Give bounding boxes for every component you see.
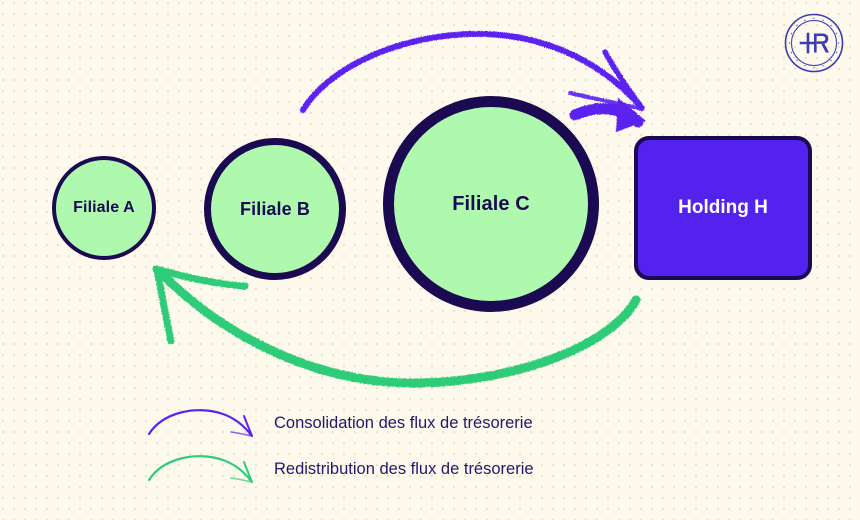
node-filiale-b[interactable]: Filiale B bbox=[204, 138, 346, 280]
node-holding-h[interactable]: Holding H bbox=[634, 136, 812, 280]
node-label: Filiale A bbox=[73, 199, 135, 217]
legend: Consolidation des flux de trésorerie Red… bbox=[145, 400, 625, 492]
curved-arrow-icon bbox=[145, 448, 260, 490]
node-label: Holding H bbox=[678, 197, 768, 219]
diagram-canvas: Filiale A Filiale B Filiale C Holding H … bbox=[0, 0, 860, 520]
node-label: Filiale C bbox=[452, 193, 530, 216]
legend-label: Consolidation des flux de trésorerie bbox=[274, 414, 533, 433]
circular-seal-logo bbox=[783, 12, 845, 74]
node-filiale-c[interactable]: Filiale C bbox=[383, 96, 599, 312]
legend-label: Redistribution des flux de trésorerie bbox=[274, 460, 534, 479]
curved-arrow-icon bbox=[145, 402, 260, 444]
legend-item-consolidation: Consolidation des flux de trésorerie bbox=[145, 400, 625, 446]
legend-item-redistribution: Redistribution des flux de trésorerie bbox=[145, 446, 625, 492]
node-filiale-a[interactable]: Filiale A bbox=[52, 156, 156, 260]
node-label: Filiale B bbox=[240, 199, 310, 220]
flow-arrow-consolidation-short bbox=[575, 98, 646, 132]
flow-arrow-redistribution bbox=[156, 269, 636, 383]
